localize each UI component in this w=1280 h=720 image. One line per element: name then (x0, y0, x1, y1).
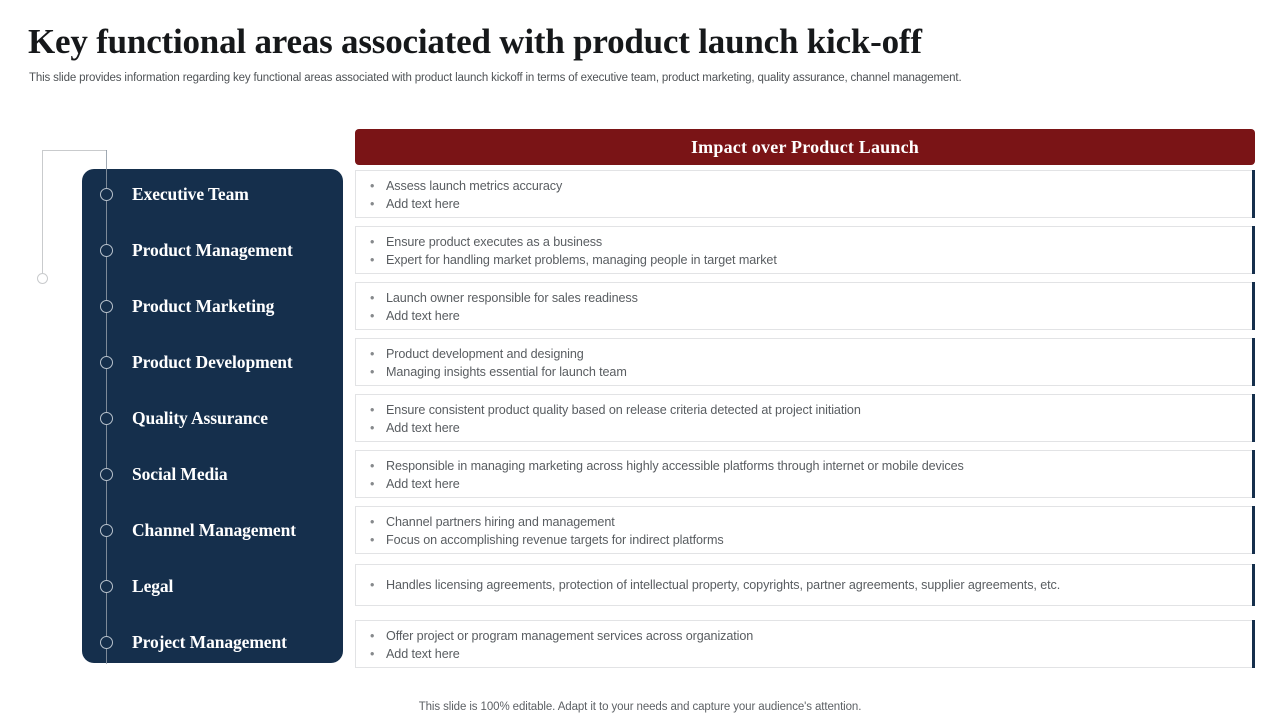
impact-bullet-item: •Add text here (356, 195, 1254, 213)
impact-row-accent-bar (1252, 226, 1255, 274)
impact-bullet-text: Expert for handling market problems, man… (386, 253, 777, 267)
impact-bullet-text: Add text here (386, 309, 460, 323)
functional-area-label: Channel Management (132, 520, 296, 541)
impact-bullet-text: Assess launch metrics accuracy (386, 179, 562, 193)
bullet-dot-icon: • (370, 251, 374, 269)
impact-header-label: Impact over Product Launch (691, 137, 919, 158)
impact-bullet-item: •Add text here (356, 419, 1254, 437)
bullet-dot-icon: • (370, 576, 374, 594)
impact-bullet-list: •Assess launch metrics accuracy•Add text… (356, 171, 1254, 213)
impact-bullet-text: Ensure product executes as a business (386, 235, 602, 249)
impact-row-accent-bar (1252, 394, 1255, 442)
impact-bullet-list: •Ensure consistent product quality based… (356, 395, 1254, 437)
impact-row-accent-bar (1252, 282, 1255, 330)
functional-area-label: Product Management (132, 240, 293, 261)
impact-row-accent-bar (1252, 506, 1255, 554)
impact-header-banner: Impact over Product Launch (355, 129, 1255, 165)
impact-bullet-item: •Assess launch metrics accuracy (356, 177, 1254, 195)
functional-area-label: Project Management (132, 632, 287, 653)
impact-bullet-item: •Add text here (356, 475, 1254, 493)
impact-bullet-item: •Focus on accomplishing revenue targets … (356, 531, 1254, 549)
impact-bullet-item: •Ensure consistent product quality based… (356, 401, 1254, 419)
impact-bullet-text: Handles licensing agreements, protection… (386, 578, 1060, 592)
impact-row-accent-bar (1252, 338, 1255, 386)
impact-row-accent-bar (1252, 450, 1255, 498)
functional-area-label: Quality Assurance (132, 408, 268, 429)
bullet-dot-icon: • (370, 457, 374, 475)
impact-row[interactable]: •Handles licensing agreements, protectio… (355, 564, 1255, 606)
impact-bullet-item: •Product development and designing (356, 345, 1254, 363)
impact-row-accent-bar (1252, 564, 1255, 606)
functional-area-bullet-circle-icon (100, 524, 113, 537)
bullet-dot-icon: • (370, 195, 374, 213)
impact-bullet-list: •Offer project or program management ser… (356, 621, 1254, 663)
impact-bullet-item: •Expert for handling market problems, ma… (356, 251, 1254, 269)
impact-bullet-item: •Managing insights essential for launch … (356, 363, 1254, 381)
functional-area-item[interactable]: Product Development (82, 334, 343, 390)
functional-area-bullet-circle-icon (100, 580, 113, 593)
bullet-dot-icon: • (370, 289, 374, 307)
bullet-dot-icon: • (370, 345, 374, 363)
impact-row[interactable]: •Offer project or program management ser… (355, 620, 1255, 668)
impact-bullet-list: •Responsible in managing marketing acros… (356, 451, 1254, 493)
impact-bullet-list: •Channel partners hiring and management•… (356, 507, 1254, 549)
impact-bullet-text: Add text here (386, 197, 460, 211)
connector-endpoint-circle-icon (37, 273, 48, 284)
functional-area-item[interactable]: Product Management (82, 222, 343, 278)
impact-bullet-list: •Ensure product executes as a business•E… (356, 227, 1254, 269)
functional-area-bullet-circle-icon (100, 244, 113, 257)
impact-bullet-text: Add text here (386, 477, 460, 491)
impact-bullet-text: Ensure consistent product quality based … (386, 403, 861, 417)
bullet-dot-icon: • (370, 363, 374, 381)
functional-area-bullet-circle-icon (100, 412, 113, 425)
bullet-dot-icon: • (370, 233, 374, 251)
impact-row[interactable]: •Responsible in managing marketing acros… (355, 450, 1255, 498)
functional-area-item[interactable]: Channel Management (82, 502, 343, 558)
bullet-dot-icon: • (370, 513, 374, 531)
bullet-dot-icon: • (370, 177, 374, 195)
functional-area-item[interactable]: Project Management (82, 614, 343, 670)
impact-bullet-list: •Handles licensing agreements, protectio… (356, 565, 1254, 594)
impact-bullet-item: •Launch owner responsible for sales read… (356, 289, 1254, 307)
impact-bullet-text: Managing insights essential for launch t… (386, 365, 627, 379)
impact-bullet-text: Add text here (386, 647, 460, 661)
footer-note: This slide is 100% editable. Adapt it to… (0, 701, 1280, 713)
impact-bullet-item: •Responsible in managing marketing acros… (356, 457, 1254, 475)
functional-area-item[interactable]: Executive Team (82, 166, 343, 222)
impact-row[interactable]: •Ensure consistent product quality based… (355, 394, 1255, 442)
impact-bullet-item: •Add text here (356, 307, 1254, 325)
impact-row[interactable]: •Product development and designing•Manag… (355, 338, 1255, 386)
connector-horizontal-line (42, 150, 107, 151)
impact-row-accent-bar (1252, 170, 1255, 218)
functional-area-bullet-circle-icon (100, 300, 113, 313)
impact-bullet-list: •Product development and designing•Manag… (356, 339, 1254, 381)
impact-bullet-text: Responsible in managing marketing across… (386, 459, 964, 473)
functional-area-bullet-circle-icon (100, 468, 113, 481)
bullet-dot-icon: • (370, 475, 374, 493)
impact-bullet-text: Focus on accomplishing revenue targets f… (386, 533, 724, 547)
functional-area-item[interactable]: Legal (82, 558, 343, 614)
impact-bullet-list: •Launch owner responsible for sales read… (356, 283, 1254, 325)
impact-row[interactable]: •Launch owner responsible for sales read… (355, 282, 1255, 330)
bullet-dot-icon: • (370, 645, 374, 663)
impact-bullet-item: •Channel partners hiring and management (356, 513, 1254, 531)
impact-row-accent-bar (1252, 620, 1255, 668)
connector-vertical-line (42, 150, 43, 278)
functional-area-label: Executive Team (132, 184, 249, 205)
functional-area-bullet-circle-icon (100, 188, 113, 201)
bullet-dot-icon: • (370, 531, 374, 549)
functional-area-label: Social Media (132, 464, 228, 485)
bullet-dot-icon: • (370, 401, 374, 419)
bullet-dot-icon: • (370, 627, 374, 645)
bullet-dot-icon: • (370, 419, 374, 437)
bullet-dot-icon: • (370, 307, 374, 325)
impact-bullet-text: Offer project or program management serv… (386, 629, 753, 643)
functional-area-bullet-circle-icon (100, 356, 113, 369)
impact-bullet-text: Add text here (386, 421, 460, 435)
impact-bullet-item: •Handles licensing agreements, protectio… (356, 576, 1254, 594)
functional-area-label: Product Development (132, 352, 293, 373)
page-title: Key functional areas associated with pro… (28, 22, 922, 62)
impact-bullet-item: •Add text here (356, 645, 1254, 663)
functional-area-item[interactable]: Quality Assurance (82, 390, 343, 446)
page-subtitle: This slide provides information regardin… (29, 72, 962, 84)
impact-row[interactable]: •Channel partners hiring and management•… (355, 506, 1255, 554)
impact-bullet-item: •Ensure product executes as a business (356, 233, 1254, 251)
impact-bullet-item: •Offer project or program management ser… (356, 627, 1254, 645)
functional-area-item[interactable]: Product Marketing (82, 278, 343, 334)
impact-row[interactable]: •Assess launch metrics accuracy•Add text… (355, 170, 1255, 218)
functional-area-bullet-circle-icon (100, 636, 113, 649)
impact-bullet-text: Product development and designing (386, 347, 584, 361)
impact-row[interactable]: •Ensure product executes as a business•E… (355, 226, 1255, 274)
impact-bullet-text: Launch owner responsible for sales readi… (386, 291, 638, 305)
functional-area-label: Legal (132, 576, 173, 597)
functional-area-item[interactable]: Social Media (82, 446, 343, 502)
impact-bullet-text: Channel partners hiring and management (386, 515, 615, 529)
functional-area-label: Product Marketing (132, 296, 274, 317)
